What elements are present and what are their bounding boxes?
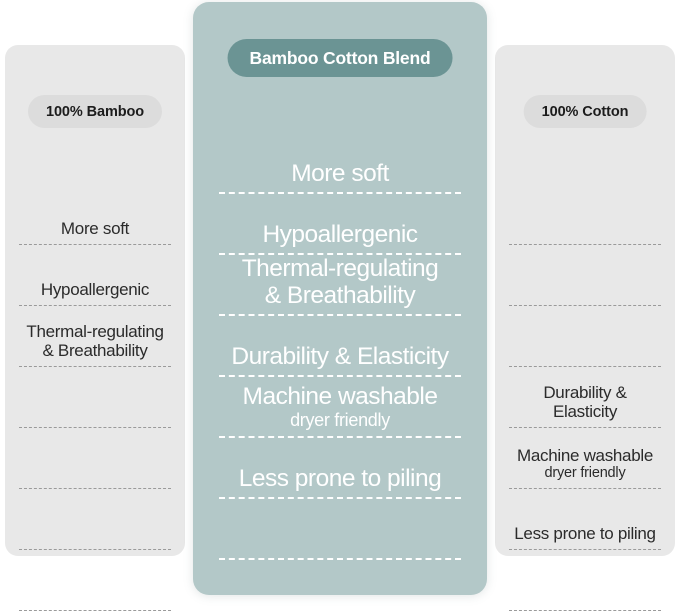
feature-label: Machine washable: [235, 384, 446, 410]
column-badge-cotton: 100% Cotton: [524, 95, 647, 128]
feature-label: Durability &Elasticity: [537, 384, 632, 421]
feature-label: Durability & Elasticity: [223, 344, 456, 370]
feature-row: Durability &Elasticity: [495, 367, 675, 428]
feature-label: Less prone to piling: [231, 466, 449, 492]
feature-label: More soft: [55, 220, 135, 238]
feature-label: Machine washable: [511, 447, 659, 465]
feature-label: Thermal-regulating& Breathability: [234, 256, 447, 309]
feature-list-bamboo: More softHypoallergenicThermal-regulatin…: [5, 184, 185, 611]
column-badge-bamboo: 100% Bamboo: [28, 95, 162, 128]
feature-row: Machine washabledryer friendly: [193, 377, 487, 438]
feature-row: More soft: [5, 184, 185, 245]
feature-list-cotton: Durability &ElasticityMachine washabledr…: [495, 184, 675, 611]
feature-label: Hypoallergenic: [35, 281, 155, 299]
feature-row: Hypoallergenic: [193, 194, 487, 255]
feature-row: Less prone to piling: [193, 438, 487, 499]
feature-label: More soft: [283, 161, 397, 187]
feature-row: Thermal-regulating& Breathability: [193, 255, 487, 316]
feature-row: Thermal-regulating& Breathability: [5, 306, 185, 367]
comparison-column-bamboo: 100% Bamboo More softHypoallergenicTherm…: [5, 45, 185, 556]
feature-row: [495, 184, 675, 245]
feature-row: Hypoallergenic: [5, 245, 185, 306]
feature-sublabel: dryer friendly: [544, 465, 625, 482]
feature-label: Hypoallergenic: [254, 222, 425, 248]
feature-row: [495, 306, 675, 367]
feature-sublabel: dryer friendly: [290, 410, 390, 431]
comparison-chart: 100% Bamboo More softHypoallergenicTherm…: [0, 0, 679, 602]
feature-row: Machine washabledryer friendly: [495, 428, 675, 489]
feature-label: Thermal-regulating& Breathability: [20, 323, 169, 360]
feature-row: More soft: [193, 133, 487, 194]
column-badge-blend: Bamboo Cotton Blend: [228, 39, 453, 77]
feature-row-divider: [219, 558, 461, 560]
feature-row: Less prone to piling: [495, 489, 675, 550]
feature-row: [5, 428, 185, 489]
feature-label: Less prone to piling: [508, 525, 661, 543]
feature-row: [495, 245, 675, 306]
feature-row: [5, 489, 185, 550]
feature-list-blend: More softHypoallergenicThermal-regulatin…: [193, 133, 487, 560]
feature-row: [193, 499, 487, 560]
feature-row: [5, 367, 185, 428]
comparison-column-blend-highlighted: Bamboo Cotton Blend More softHypoallerge…: [193, 2, 487, 595]
feature-row: Durability & Elasticity: [193, 316, 487, 377]
comparison-column-cotton: 100% Cotton Durability &ElasticityMachin…: [495, 45, 675, 556]
